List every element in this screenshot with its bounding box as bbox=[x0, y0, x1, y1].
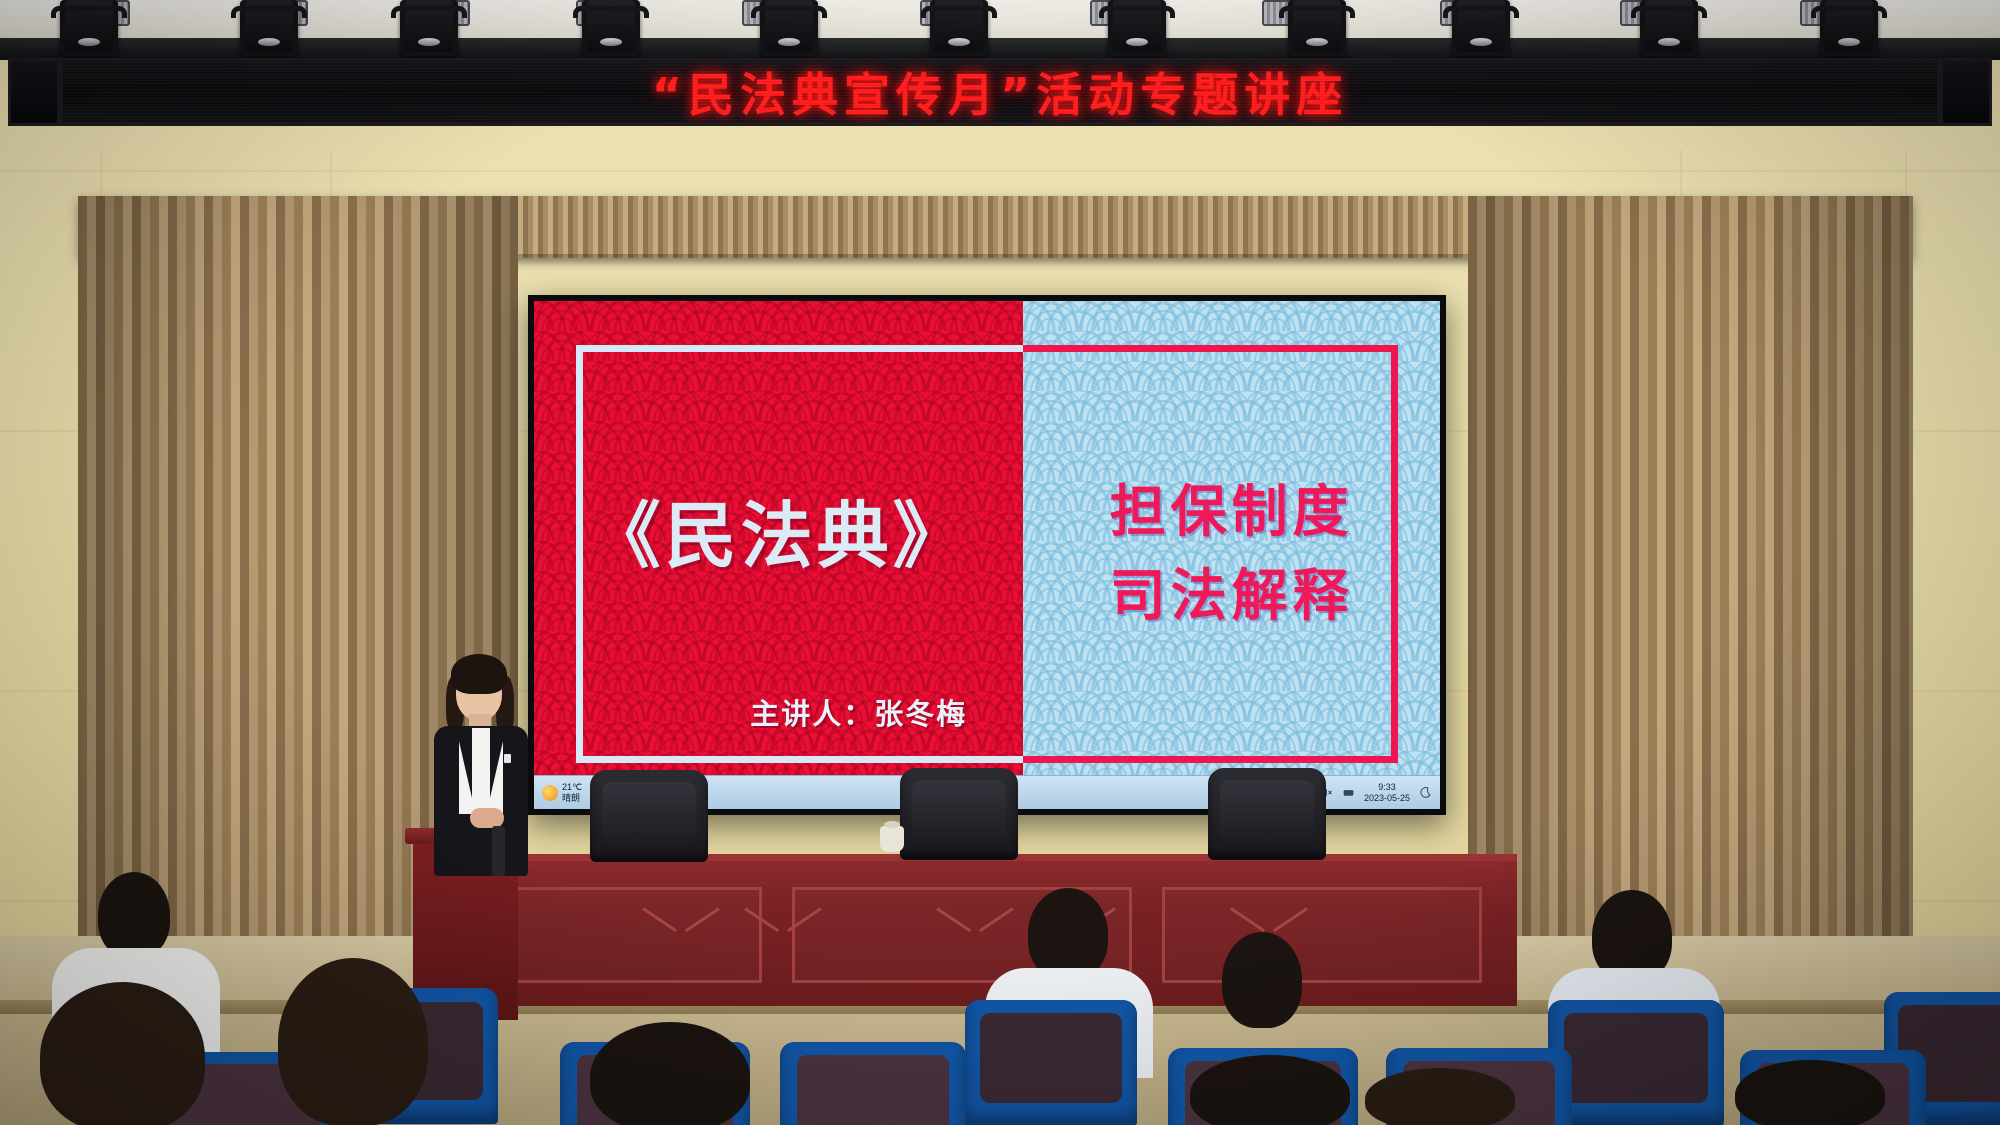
weather-text: 21℃ 晴朗 bbox=[562, 782, 582, 803]
stage-chair bbox=[590, 770, 708, 862]
stage-light-fixture bbox=[1820, 0, 1878, 56]
diamond-motif bbox=[643, 907, 719, 935]
led-banner-right-cap bbox=[1940, 58, 1992, 126]
stage-light-fixture bbox=[1288, 0, 1346, 56]
stage-light-fixture bbox=[760, 0, 818, 56]
audience-seat bbox=[1548, 1000, 1724, 1125]
slide-content: 《民法典》 主讲人：张冬梅 担保制度 司法解释 21℃ 晴朗 bbox=[534, 301, 1440, 809]
led-banner-text: “民法典宣传月”活动专题讲座 bbox=[652, 59, 1348, 125]
slide-blue-panel: 担保制度 司法解释 bbox=[1023, 301, 1440, 809]
presenter-person bbox=[420, 650, 540, 890]
network-icon[interactable] bbox=[1342, 786, 1355, 799]
stage-light-fixture bbox=[240, 0, 298, 56]
table-panel bbox=[1162, 887, 1482, 983]
audience-head bbox=[1735, 1060, 1885, 1125]
presenter-hands bbox=[470, 808, 504, 828]
audience-head bbox=[590, 1022, 750, 1125]
audience-seat bbox=[965, 1000, 1137, 1125]
projection-screen: 《民法典》 主讲人：张冬梅 担保制度 司法解释 21℃ 晴朗 bbox=[528, 295, 1446, 815]
slide-red-panel: 《民法典》 主讲人：张冬梅 bbox=[534, 301, 1023, 809]
diamond-motif bbox=[745, 907, 821, 935]
audience-head bbox=[278, 958, 428, 1125]
led-banner: “民法典宣传月”活动专题讲座 bbox=[60, 58, 1940, 126]
table-diamond-motifs bbox=[432, 907, 1517, 935]
audience-head bbox=[1222, 932, 1302, 1028]
slide-title: 《民法典》 bbox=[589, 477, 969, 582]
taskbar-left-group: 21℃ 晴朗 bbox=[542, 782, 582, 803]
audience-head bbox=[98, 872, 170, 958]
slide-speaker-label: 主讲人：张冬梅 bbox=[750, 691, 967, 733]
audience-head bbox=[1365, 1068, 1515, 1125]
diamond-motif bbox=[937, 907, 1013, 935]
microphone bbox=[492, 826, 505, 876]
led-banner-left-cap bbox=[8, 58, 60, 126]
weather-widget[interactable]: 21℃ 晴朗 bbox=[542, 782, 582, 803]
stage-light-fixture bbox=[1452, 0, 1510, 56]
taskbar-clock[interactable]: 9:33 2023-05-25 bbox=[1364, 782, 1410, 803]
audience-head bbox=[40, 982, 205, 1125]
slide-subtitle-line-2: 司法解释 bbox=[1110, 555, 1354, 639]
audience-seat bbox=[780, 1042, 966, 1125]
presenter-badge bbox=[504, 754, 511, 763]
clock-time: 9:33 bbox=[1364, 782, 1410, 792]
presenter-hair-top bbox=[451, 654, 507, 694]
weather-temperature: 21℃ bbox=[562, 782, 582, 792]
tea-cup bbox=[880, 826, 904, 852]
moon-icon[interactable] bbox=[1419, 786, 1432, 799]
weather-description: 晴朗 bbox=[562, 793, 582, 803]
clock-date: 2023-05-25 bbox=[1364, 793, 1410, 803]
audience-head bbox=[1028, 888, 1108, 980]
lighting-truss bbox=[0, 38, 2000, 60]
stage-chair bbox=[900, 768, 1018, 860]
stage-light-fixture bbox=[582, 0, 640, 56]
stage-light-fixture bbox=[60, 0, 118, 56]
stage-chair bbox=[1208, 768, 1326, 860]
lecture-hall-photo: “民法典宣传月”活动专题讲座 《民法典》 主讲人：张冬梅 担保制度 司法解释 bbox=[0, 0, 2000, 1125]
slide-subtitle-line-1: 担保制度 bbox=[1110, 471, 1354, 555]
stage-light-fixture bbox=[1640, 0, 1698, 56]
audience-head bbox=[1190, 1055, 1350, 1125]
presenter-lapel bbox=[456, 728, 472, 798]
stage-light-fixture bbox=[930, 0, 988, 56]
head-table bbox=[432, 854, 1517, 1006]
diamond-motif bbox=[1231, 907, 1307, 935]
stage-curtain-right bbox=[1468, 196, 1913, 936]
stage-light-fixture bbox=[1108, 0, 1166, 56]
stage-light-fixture bbox=[400, 0, 458, 56]
sun-icon bbox=[542, 785, 558, 801]
presenter-lapel bbox=[490, 728, 506, 798]
